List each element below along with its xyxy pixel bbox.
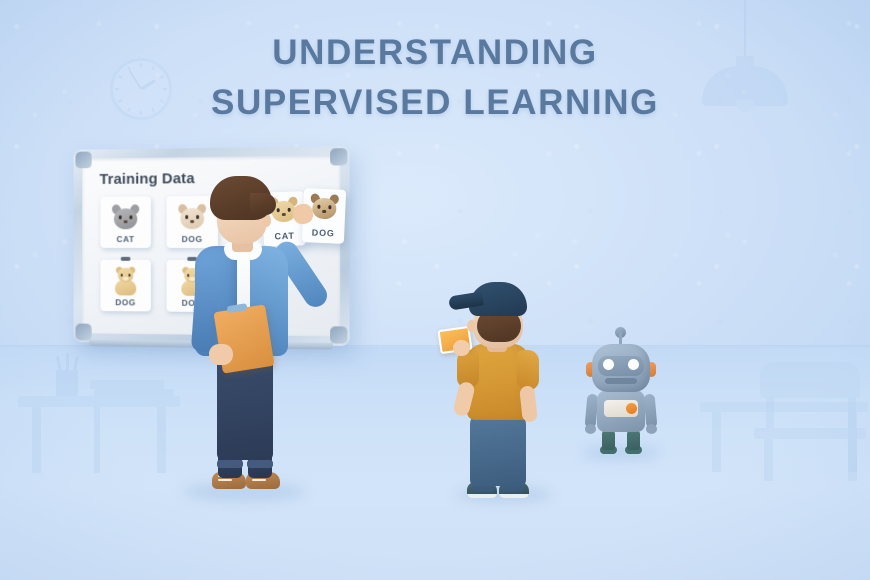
robot-hand	[585, 424, 596, 434]
teacher-right-hand	[291, 202, 314, 225]
robot-eye-icon	[603, 359, 614, 370]
teacher-hair	[210, 176, 272, 220]
student-left-hand	[453, 340, 470, 356]
dog-body-icon	[110, 267, 141, 297]
robot-character	[578, 332, 664, 456]
magnet-icon	[121, 257, 131, 261]
floor	[0, 347, 870, 580]
dog-face-icon	[309, 194, 340, 221]
student-pants	[470, 414, 526, 486]
training-card-label: DOG	[100, 297, 150, 307]
robot-eye-icon	[628, 359, 639, 370]
title-line-1: UNDERSTANDING	[0, 28, 870, 78]
student-ear	[467, 320, 476, 332]
robot-status-light-icon	[626, 403, 637, 414]
robot-hand	[646, 424, 657, 434]
student-sleeve	[517, 350, 539, 390]
student-character	[455, 282, 553, 500]
teacher-character	[176, 176, 312, 496]
training-card-label: CAT	[100, 234, 150, 244]
robot-mouth-icon	[605, 378, 637, 384]
page-title: UNDERSTANDING SUPERVISED LEARNING	[0, 28, 870, 127]
robot-leg	[627, 430, 640, 450]
student-right-arm	[519, 385, 538, 422]
frame-corner-top-left	[75, 152, 91, 169]
teacher-left-hand	[209, 344, 233, 365]
cat-face-icon	[111, 205, 140, 231]
title-line-2: SUPERVISED LEARNING	[0, 78, 870, 128]
frame-corner-bottom-left	[75, 324, 91, 341]
illustration-scene: UNDERSTANDING SUPERVISED LEARNING Traini…	[0, 0, 870, 580]
robot-leg	[602, 430, 615, 450]
